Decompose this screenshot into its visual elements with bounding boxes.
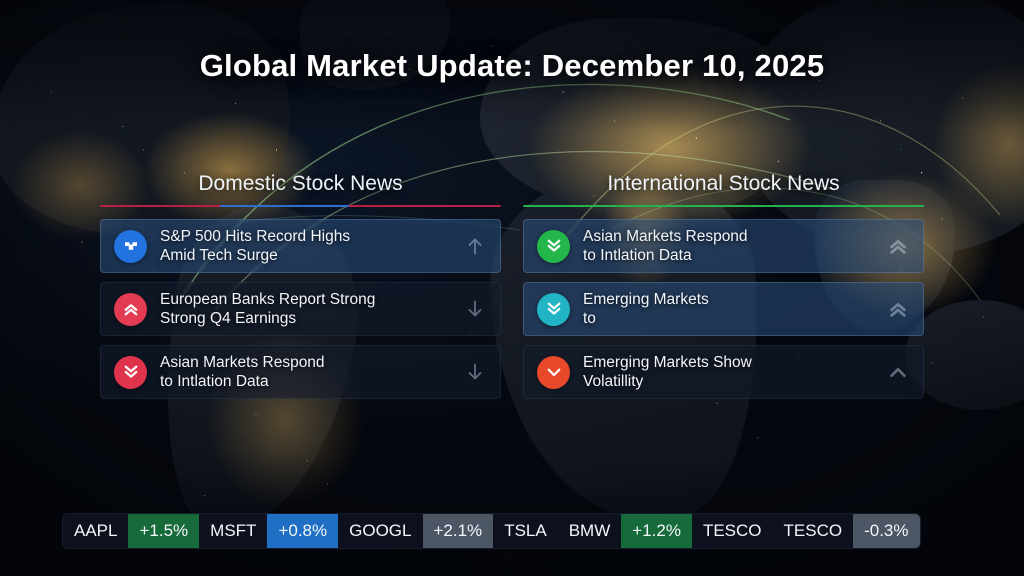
column-accent-line-international <box>523 205 924 207</box>
news-card-list-domestic: S&P 500 Hits Record Highs Amid Tech Surg… <box>100 219 501 399</box>
news-card-list-international: Asian Markets Respond to Intlation DataE… <box>523 219 924 399</box>
page-title: Global Market Update: December 10, 2025 <box>0 48 1024 84</box>
news-columns: Domestic Stock NewsS&P 500 Hits Record H… <box>100 172 924 399</box>
chevron-down-icon <box>537 356 570 389</box>
ticker-symbol[interactable]: AAPL <box>63 514 128 548</box>
ticker-symbol[interactable]: BMW <box>558 514 622 548</box>
bank-icon <box>114 230 147 263</box>
ticker-change-value[interactable]: -0.3% <box>853 514 919 548</box>
stock-ticker-bar[interactable]: AAPL+1.5%MSFT+0.8%GOOGL+2.1%TSLABMW+1.2%… <box>62 513 921 549</box>
news-headline: S&P 500 Hits Record Highs Amid Tech Surg… <box>160 227 462 265</box>
news-column-international: International Stock NewsAsian Markets Re… <box>523 172 924 399</box>
ticker-change-value[interactable]: +0.8% <box>267 514 338 548</box>
arrow-up-icon <box>462 231 488 261</box>
column-heading-domestic: Domestic Stock News <box>100 172 501 205</box>
ticker-symbol[interactable]: TESCO <box>692 514 773 548</box>
news-card[interactable]: Asian Markets Respond to Intlation Data <box>100 345 501 399</box>
double-chevron-up-icon <box>885 231 911 261</box>
double-chevron-up-icon <box>885 294 911 324</box>
news-column-domestic: Domestic Stock NewsS&P 500 Hits Record H… <box>100 172 501 399</box>
ticker-symbol[interactable]: TESCO <box>773 514 854 548</box>
double-chevron-up-icon <box>114 293 147 326</box>
news-headline: Emerging Markets to <box>583 290 885 328</box>
news-headline: European Banks Report Strong Strong Q4 E… <box>160 290 462 328</box>
ticker-symbol[interactable]: GOOGL <box>338 514 422 548</box>
ticker-change-value[interactable]: +1.5% <box>128 514 199 548</box>
chevron-up-icon <box>885 357 911 387</box>
news-headline: Asian Markets Respond to Intlation Data <box>583 227 885 265</box>
news-card[interactable]: Asian Markets Respond to Intlation Data <box>523 219 924 273</box>
ticker-symbol[interactable]: TSLA <box>493 514 558 548</box>
double-chevron-down-icon <box>537 230 570 263</box>
ticker-symbol[interactable]: MSFT <box>199 514 267 548</box>
news-card[interactable]: European Banks Report Strong Strong Q4 E… <box>100 282 501 336</box>
news-card[interactable]: S&P 500 Hits Record Highs Amid Tech Surg… <box>100 219 501 273</box>
arrow-down-icon <box>462 294 488 324</box>
arrow-down-icon <box>462 357 488 387</box>
news-card[interactable]: Emerging Markets Show Volatillity <box>523 345 924 399</box>
news-headline: Emerging Markets Show Volatillity <box>583 353 885 391</box>
ticker-change-value[interactable]: +1.2% <box>621 514 692 548</box>
column-heading-international: International Stock News <box>523 172 924 205</box>
column-accent-line-domestic <box>100 205 501 207</box>
ticker-change-value[interactable]: +2.1% <box>423 514 494 548</box>
double-chevron-down-icon <box>537 293 570 326</box>
double-chevron-down-icon <box>114 356 147 389</box>
news-card[interactable]: Emerging Markets to <box>523 282 924 336</box>
accent-segment <box>220 205 348 207</box>
news-headline: Asian Markets Respond to Intlation Data <box>160 353 462 391</box>
